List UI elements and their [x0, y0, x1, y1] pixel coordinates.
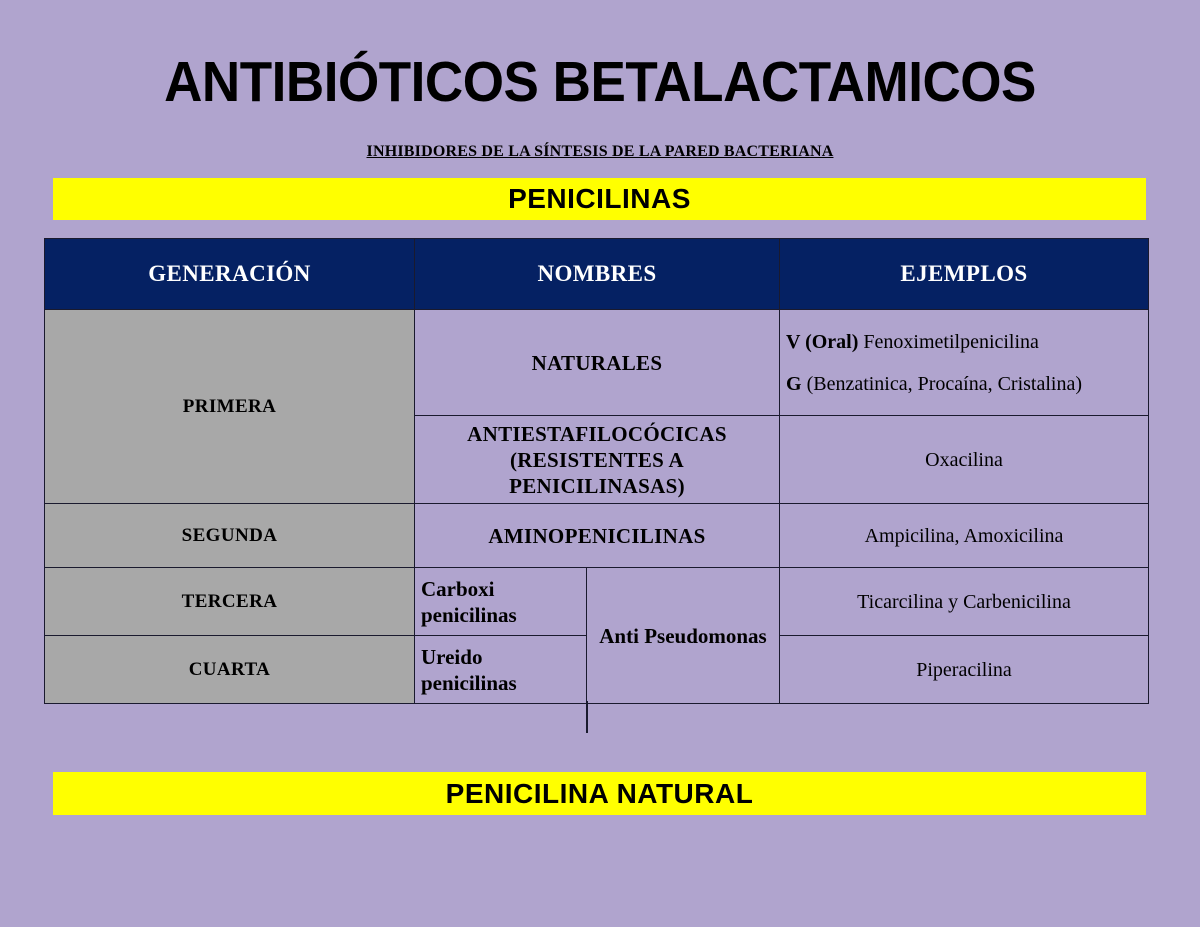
ejemplo-g-prefix: G [786, 373, 802, 395]
cell-nombre-carboxi-penicilinas: Carboxi penicilinas [415, 568, 587, 636]
ejemplo-line-v: V (Oral) Fenoximetilpenicilina [786, 328, 1142, 356]
table-tail-vertical-rule [586, 701, 588, 733]
cell-nombre-ureido-penicilinas: Ureido penicilinas [415, 636, 587, 704]
cell-nombre-antiestafilococicas: ANTIESTAFILOCÓCICAS (RESISTENTES A PENIC… [415, 416, 780, 504]
ejemplo-g-rest: (Benzatinica, Procaína, Cristalina) [802, 373, 1082, 395]
ejemplo-line-g: G (Benzatinica, Procaína, Cristalina) [786, 370, 1142, 398]
table-header-row: GENERACIÓN NOMBRES EJEMPLOS [45, 239, 1149, 310]
section-banner-penicilinas: PENICILINAS [53, 178, 1146, 220]
ejemplo-v-prefix: V (Oral) [786, 331, 858, 353]
cell-ejemplo-cuarta: Piperacilina [780, 636, 1149, 704]
section-banner-penicilina-natural: PENICILINA NATURAL [53, 772, 1146, 815]
column-header-generacion: GENERACIÓN [45, 239, 415, 310]
cell-ejemplo-aminopenicilinas: Ampicilina, Amoxicilina [780, 504, 1149, 568]
cell-generacion-cuarta: CUARTA [45, 636, 415, 704]
section-banner-penicilina-natural-label: PENICILINA NATURAL [446, 778, 754, 810]
cell-ejemplo-naturales: V (Oral) Fenoximetilpenicilina G (Benzat… [780, 310, 1149, 416]
section-banner-penicilinas-label: PENICILINAS [508, 183, 691, 215]
cell-generacion-primera: PRIMERA [45, 310, 415, 504]
cell-anti-pseudomonas: Anti Pseudomonas [587, 568, 780, 704]
column-header-nombres: NOMBRES [415, 239, 780, 310]
table-row: TERCERA Carboxi penicilinas Anti Pseudom… [45, 568, 1149, 636]
table-row: SEGUNDA AMINOPENICILINAS Ampicilina, Amo… [45, 504, 1149, 568]
page-title: ANTIBIÓTICOS BETALACTAMICOS [42, 50, 1158, 114]
cell-nombre-aminopenicilinas: AMINOPENICILINAS [415, 504, 780, 568]
cell-generacion-segunda: SEGUNDA [45, 504, 415, 568]
column-header-ejemplos: EJEMPLOS [780, 239, 1149, 310]
ejemplo-v-rest: Fenoximetilpenicilina [858, 331, 1039, 353]
cell-generacion-tercera: TERCERA [45, 568, 415, 636]
page-subtitle: INHIBIDORES DE LA SÍNTESIS DE LA PARED B… [0, 142, 1200, 162]
cell-ejemplo-tercera: Ticarcilina y Carbenicilina [780, 568, 1149, 636]
cell-ejemplo-antiestafilococicas: Oxacilina [780, 416, 1149, 504]
table-row: PRIMERA NATURALES V (Oral) Fenoximetilpe… [45, 310, 1149, 416]
penicilinas-table: GENERACIÓN NOMBRES EJEMPLOS PRIMERA NATU… [44, 238, 1149, 704]
cell-nombre-naturales: NATURALES [415, 310, 780, 416]
